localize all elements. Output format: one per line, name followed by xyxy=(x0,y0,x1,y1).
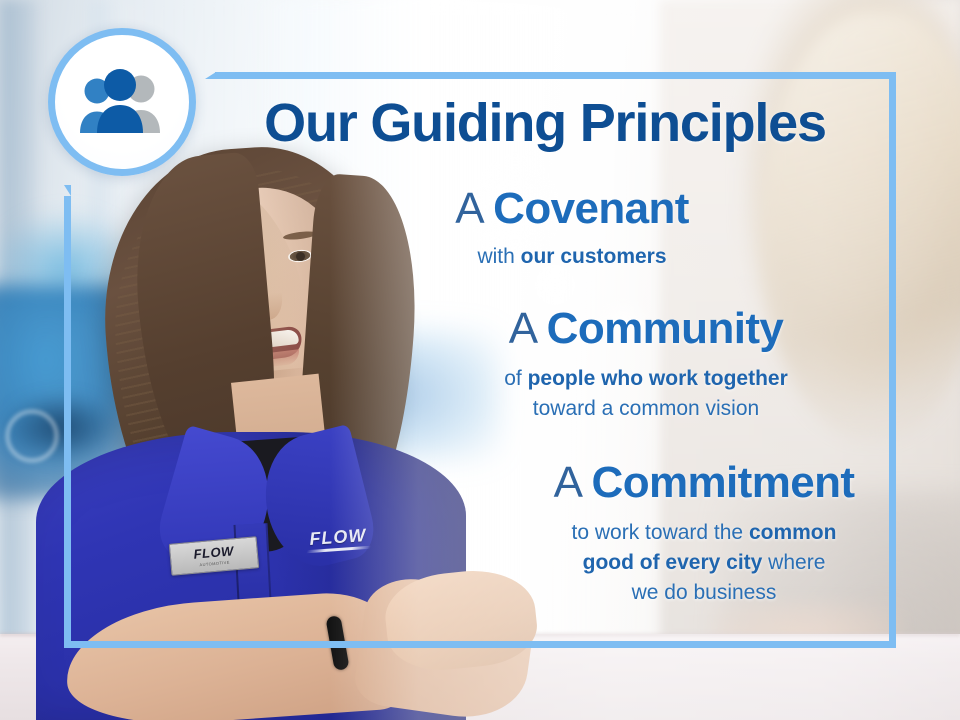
subtext-line: with our customers xyxy=(235,242,909,272)
subtext-line: we do business xyxy=(367,578,960,608)
principle-community-heading: A Community xyxy=(309,306,960,352)
guiding-principles-graphic: FLOW AUTOMOTIVE FLOW xyxy=(0,0,960,720)
principle-covenant-subtext: with our customers xyxy=(235,242,909,272)
principle-covenant-article: A xyxy=(455,184,481,233)
subtext-line: to work toward the common xyxy=(367,518,960,548)
principle-community-word: Community xyxy=(547,304,784,353)
principle-community-subtext: of people who work togethertoward a comm… xyxy=(309,364,960,424)
principle-commitment-heading: A Commitment xyxy=(367,460,960,506)
text-content: Our Guiding Principles A Covenant with o… xyxy=(215,78,889,641)
principle-commitment-article: A xyxy=(554,458,580,507)
subtext-line: good of every city where xyxy=(367,548,960,578)
principle-community-article: A xyxy=(509,304,535,353)
principle-commitment-word: Commitment xyxy=(592,458,855,507)
principle-community: A Community of people who work togethert… xyxy=(215,306,960,424)
principle-covenant-word: Covenant xyxy=(493,184,689,233)
principle-commitment-subtext: to work toward the commongood of every c… xyxy=(367,518,960,607)
subtext-line: of people who work together xyxy=(309,364,960,394)
subtext-line: toward a common vision xyxy=(309,394,960,424)
principle-covenant-heading: A Covenant xyxy=(235,186,909,232)
page-title: Our Guiding Principles xyxy=(215,96,875,150)
principle-commitment: A Commitment to work toward the commongo… xyxy=(215,460,960,608)
principle-covenant: A Covenant with our customers xyxy=(215,186,909,272)
people-group-icon xyxy=(48,28,196,176)
